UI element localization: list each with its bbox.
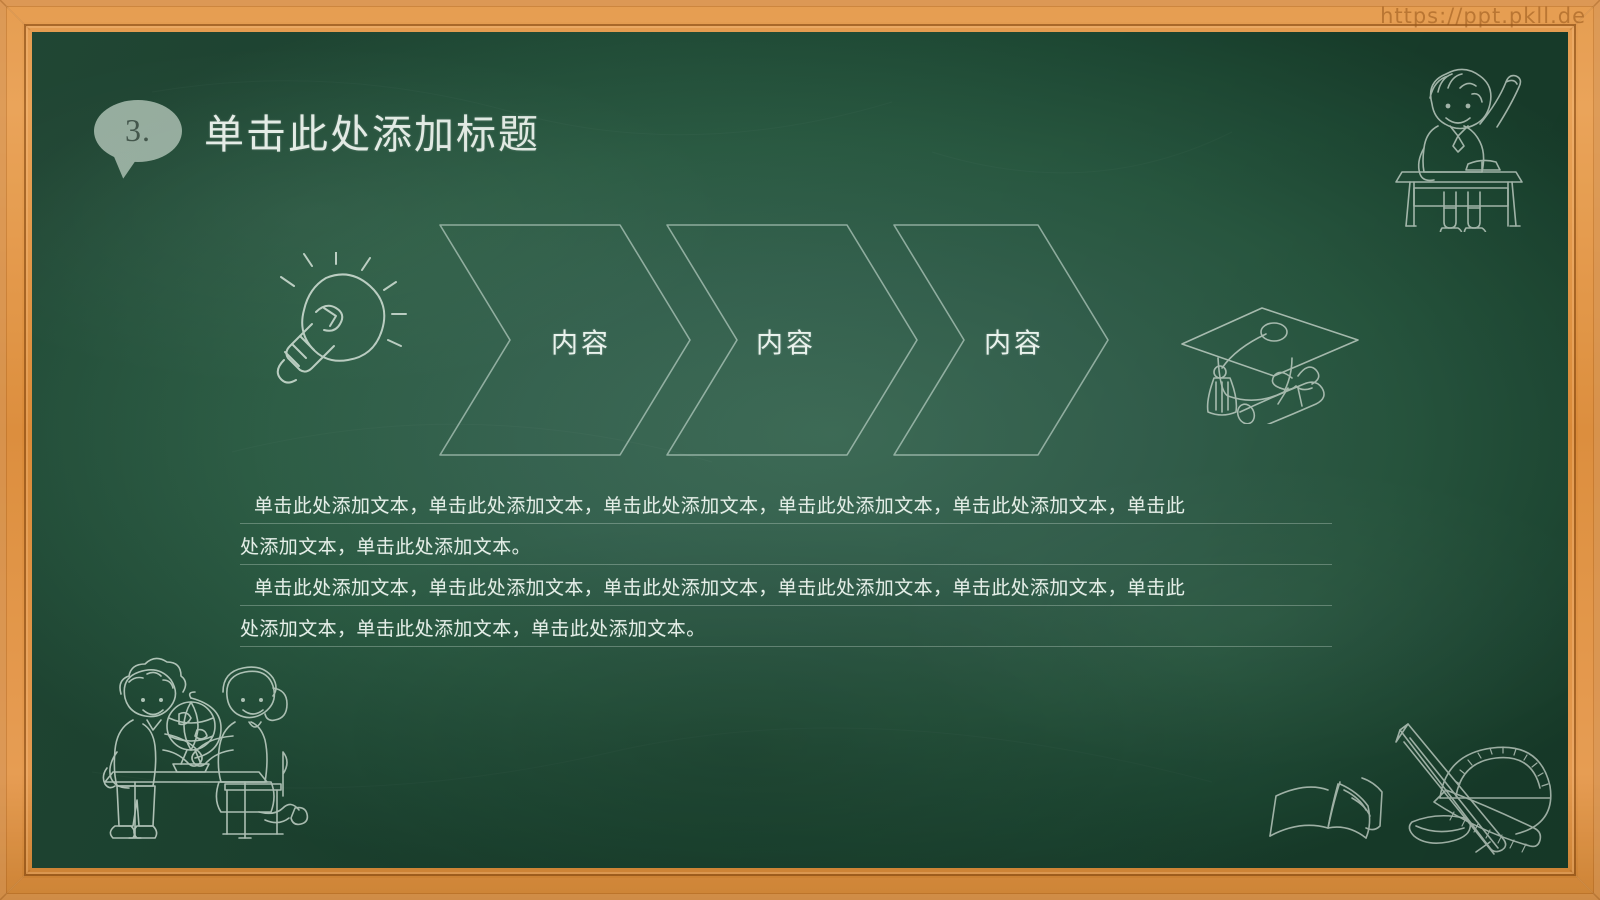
text-line: 处添加文本，单击此处添加文本。 — [240, 524, 1332, 565]
student-at-desk-icon — [1380, 52, 1530, 232]
text-line: 处添加文本，单击此处添加文本，单击此处添加文本。 — [240, 606, 1332, 647]
page-title: 单击此处添加标题 — [204, 102, 540, 160]
site-watermark: https://ppt.pkll.de — [1380, 4, 1586, 28]
text-line-content: 单击此处添加文本，单击此处添加文本，单击此处添加文本，单击此处添加文本，单击此处… — [254, 491, 1185, 518]
text-line: 单击此处添加文本，单击此处添加文本，单击此处添加文本，单击此处添加文本，单击此处… — [240, 483, 1332, 524]
text-line-content: 处添加文本，单击此处添加文本。 — [240, 532, 531, 559]
text-line-content: 处添加文本，单击此处添加文本，单击此处添加文本。 — [240, 614, 706, 641]
step-number-bubble: 3. — [94, 100, 182, 162]
children-with-globe-icon — [77, 652, 337, 862]
slide-header: 3. 单击此处添加标题 — [94, 100, 540, 162]
presentation-slide: 3. 单击此处添加标题 — [0, 0, 1600, 900]
chalkboard-surface: 3. 单击此处添加标题 — [32, 32, 1568, 868]
graduation-cap-icon — [1162, 294, 1372, 424]
body-text-block: 单击此处添加文本，单击此处添加文本，单击此处添加文本，单击此处添加文本，单击此处… — [240, 483, 1332, 647]
school-supplies-icon — [1260, 702, 1560, 862]
step-number: 3. — [94, 100, 182, 162]
text-line: 单击此处添加文本，单击此处添加文本，单击此处添加文本，单击此处添加文本，单击此处… — [240, 565, 1332, 606]
lightbulb-icon — [254, 252, 414, 392]
text-line-content: 单击此处添加文本，单击此处添加文本，单击此处添加文本，单击此处添加文本，单击此处… — [254, 573, 1185, 600]
